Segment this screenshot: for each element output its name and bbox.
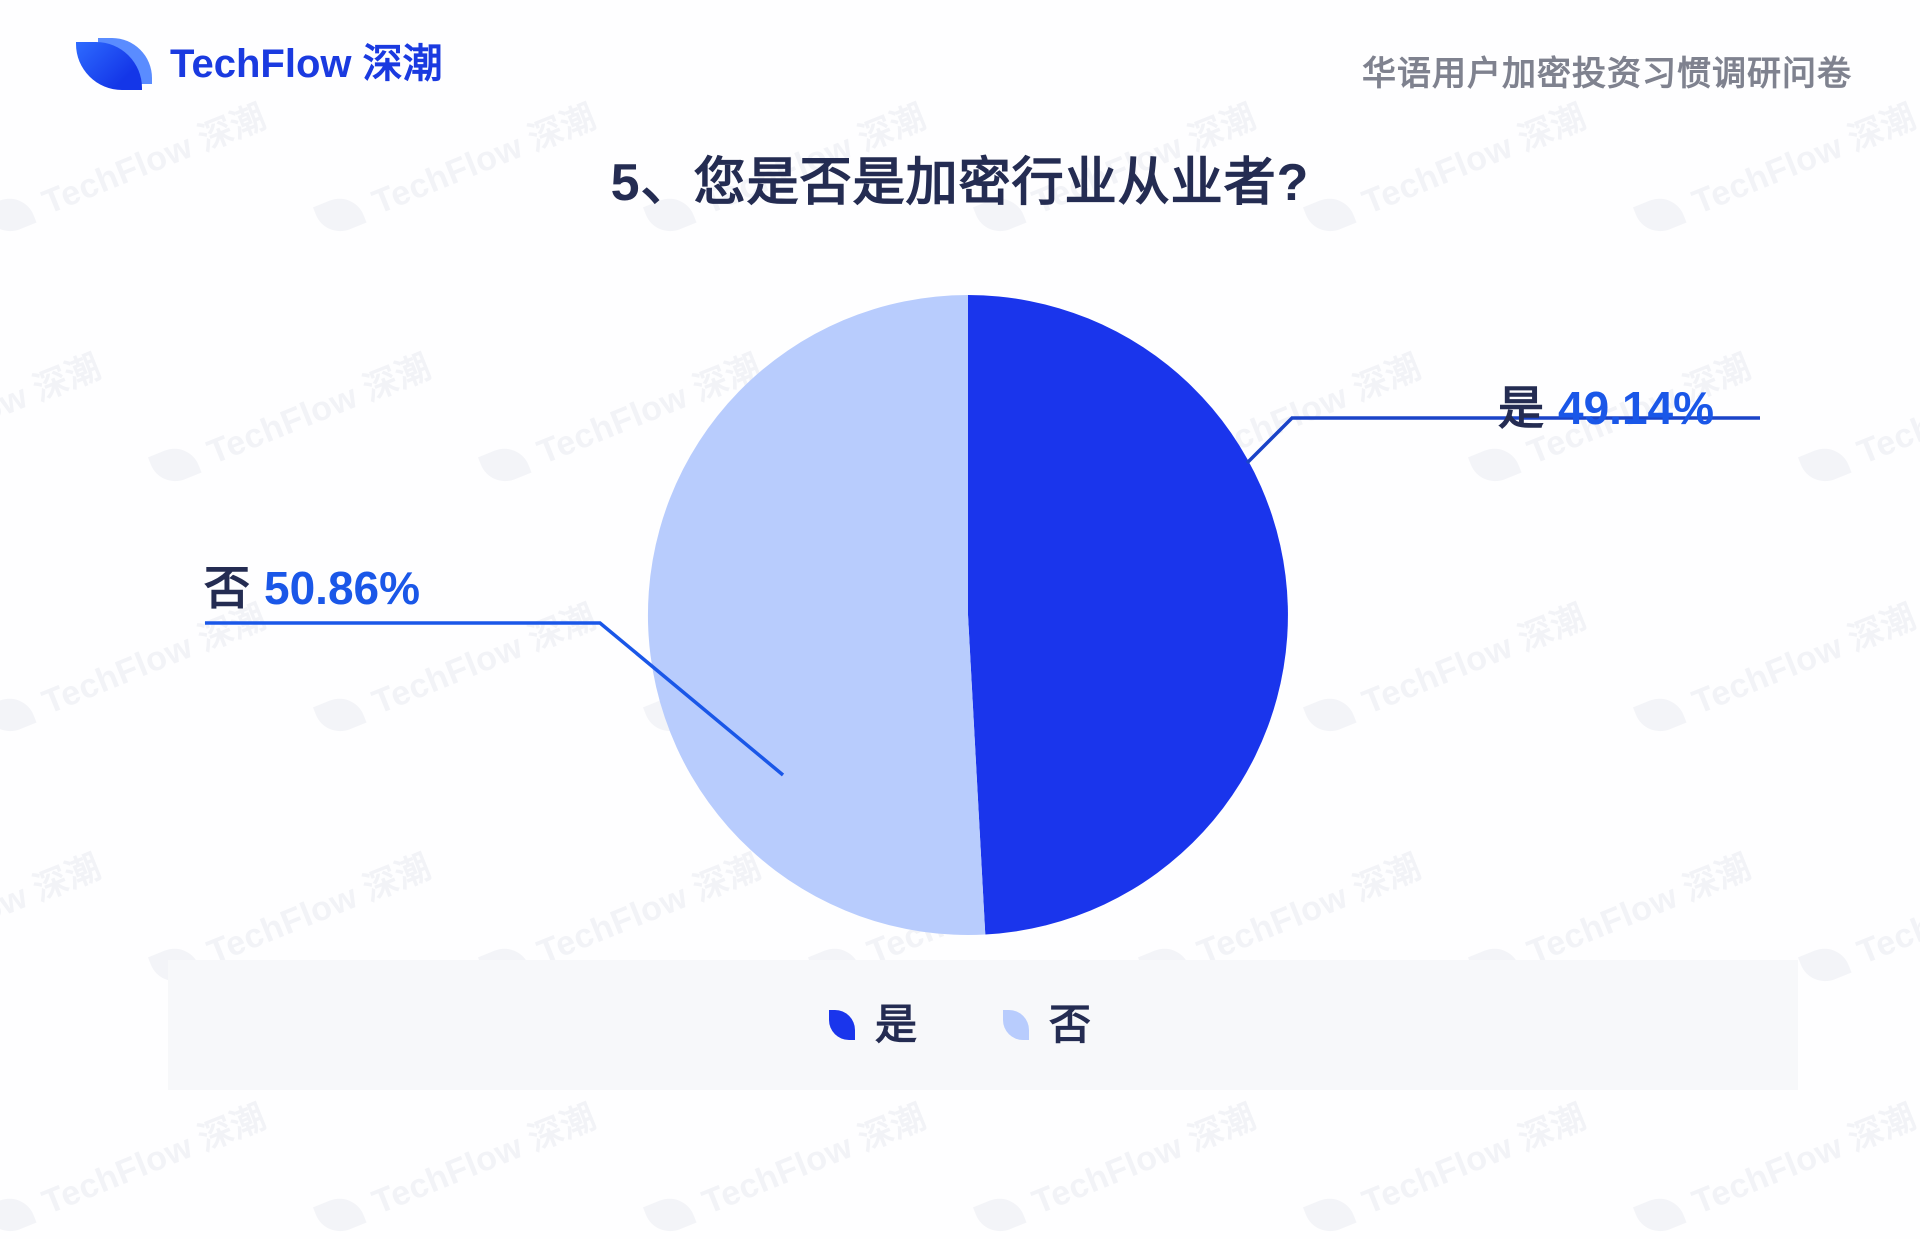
- survey-title: 华语用户加密投资习惯调研问卷: [1362, 46, 1852, 95]
- legend-item-yes[interactable]: 是: [829, 1004, 917, 1046]
- pie-slice-是[interactable]: [968, 295, 1288, 935]
- slice-label-no: 否50.86%: [204, 565, 420, 611]
- legend-item-no[interactable]: 否: [1003, 1004, 1091, 1046]
- slice-label-yes-category: 是: [1498, 382, 1544, 434]
- legend-label-yes: 是: [875, 1004, 917, 1046]
- techflow-leaf-logo-icon: [76, 38, 152, 90]
- chart-page: TechFlow 深潮TechFlow 深潮TechFlow 深潮TechFlo…: [0, 0, 1920, 1239]
- slice-label-no-category: 否: [204, 562, 250, 614]
- brand-logo: TechFlow 深潮: [76, 38, 443, 90]
- pie-slices: [648, 295, 1288, 935]
- chart-legend: 是 否: [0, 960, 1920, 1090]
- slice-label-no-percent: 50.86%: [264, 562, 420, 614]
- page-title: 5、您是否是加密行业从业者?: [0, 140, 1920, 215]
- slice-label-yes-percent: 49.14%: [1558, 382, 1714, 434]
- legend-swatch-no-icon: [1003, 1010, 1029, 1040]
- legend-swatch-yes-icon: [829, 1010, 855, 1040]
- legend-label-no: 否: [1049, 1004, 1091, 1046]
- slice-label-yes: 是49.14%: [1498, 385, 1714, 431]
- brand-name: TechFlow 深潮: [170, 44, 443, 84]
- page-header: TechFlow 深潮 华语用户加密投资习惯调研问卷: [0, 0, 1920, 140]
- pie-slice-否[interactable]: [648, 295, 985, 935]
